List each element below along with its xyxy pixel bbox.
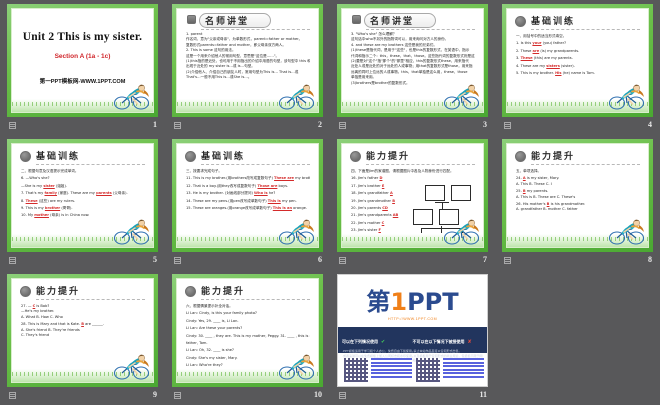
exercise-item: 8. These (这些) are my rulers. (21, 199, 145, 204)
header-badge-icon (515, 16, 526, 27)
item-pre: He is my brother. (对画线部分提问) (193, 191, 253, 195)
exercise-item: —She is my sister (姐姐). (21, 184, 145, 189)
slide-footer: 2 (165, 119, 330, 133)
text-line: That's…一般不用This is…或She is…。 (186, 75, 310, 80)
answer-blank: B (81, 322, 84, 326)
allowed-title: 可以在下列情况使用 (342, 339, 378, 344)
exercise-item: 13. He is my brother. (对画线部分提问) Who is h… (186, 191, 310, 196)
header-title: 基础训练 (531, 14, 575, 27)
slide-number: 11 (479, 390, 487, 399)
dialogue-line: Li Lan: Are these your parents? (186, 326, 310, 331)
answer-blank: B (523, 189, 526, 193)
answer-blank: brother (45, 206, 60, 210)
slide-canvas: 能力提升四、下面是Jim的家谱图，请根据图片中各及人物身份进行匹配。16. Ji… (341, 143, 484, 248)
cyclist-illustration (276, 84, 316, 110)
item-number: 10. (21, 213, 27, 217)
item-pre: These are my (521, 64, 546, 68)
cyclist-illustration (111, 219, 151, 245)
item-pre: —She is my (21, 184, 42, 188)
header-title: 能力提升 (36, 284, 80, 297)
item-number: 16. (351, 176, 357, 180)
slide-cell[interactable]: Unit 2 This is my sister.Section A (1a -… (0, 0, 165, 135)
header-badge-icon (20, 151, 31, 162)
answer-blank: A (390, 191, 393, 195)
answer-blank: AB (393, 213, 399, 217)
slide-frame[interactable]: 能力提升五、单项选择。24. A is my sister, Mary.A. T… (502, 139, 653, 252)
slide-icon (339, 392, 346, 399)
tree-connector (421, 228, 422, 233)
exercise-item: 11. This is my brother.(用brothers改写成复数句子… (186, 176, 310, 181)
item-number: 18. (351, 191, 357, 195)
question-stem-post: is my sister, Mary. (527, 176, 559, 180)
item-number: 13. (186, 191, 192, 195)
header-title: 基础训练 (36, 149, 80, 162)
slide-header: 能力提升 (185, 284, 310, 300)
cyclist-illustration (606, 219, 646, 245)
header-divider (531, 29, 640, 30)
slide-thumbnail-grid: Unit 2 This is my sister.Section A (1a -… (0, 0, 660, 405)
answer-blank: your (532, 41, 541, 45)
slide-icon (339, 122, 346, 129)
slide-number: 1 (153, 120, 157, 129)
item-number: 8. (21, 199, 24, 203)
text-line: 六、根据情景提示补全对话。 (186, 304, 310, 309)
dialogue-line: father, Tom. (186, 341, 310, 346)
slide-cell[interactable]: 能力提升四、下面是Jim的家谱图，请根据图片中各及人物身份进行匹配。16. Ji… (330, 135, 495, 270)
header-title: 能力提升 (201, 284, 245, 297)
answer-blank: are (533, 49, 540, 53)
item-number: 2. (516, 49, 519, 53)
item-label: Jim's father (358, 176, 378, 180)
header-title: 名师讲堂 (205, 14, 249, 27)
answer-blank: mother (34, 213, 49, 217)
answer-blank: This is (268, 199, 281, 203)
item-post: (you) father? (543, 41, 566, 45)
item-label: Jim's grandparents (358, 213, 392, 217)
item-number: 1. (516, 41, 519, 45)
text-line: A. grandfather B. mother C. father (516, 207, 640, 212)
item-post: (哥哥). (61, 206, 72, 210)
slide-canvas: 能力提升五、单项选择。24. A is my sister, Mary.A. T… (506, 143, 649, 248)
slide-canvas: 名师讲堂3. "Who's she" 怎么理解？这句话中who不另外的指物词可以… (341, 8, 484, 113)
slide-header: 基础训练 (20, 149, 145, 165)
exercise-item: 5. This is my brother. His (he) name is … (516, 71, 640, 76)
slide-footer: 5 (0, 254, 165, 268)
header-badge-icon (185, 151, 196, 162)
qr-caption (371, 358, 412, 380)
question-stem: 28. This is Mary and that is Kate. (21, 322, 80, 326)
slide-header: 基础训练 (515, 14, 640, 30)
question-stem: 26. His mother's (516, 202, 546, 206)
cross-icon: ✘ (468, 339, 472, 345)
header-badge-icon (352, 15, 361, 24)
text-line: (1)these是指代词，是用于"这些"，也是this的复数形式，在英语中，指示 (351, 48, 475, 53)
item-label: Jim's grandmother (358, 199, 391, 203)
dialogue-speaker: Cindy: (186, 319, 197, 323)
slide-icon (339, 257, 346, 264)
slide-frame[interactable]: Unit 2 This is my sister.Section A (1a -… (7, 4, 158, 117)
qr-block (344, 357, 412, 385)
dialogue-line: Cindy: Yes, 29. ____ is, Li Lan. (186, 319, 310, 324)
slide-frame[interactable]: 能力提升四、下面是Jim的家谱图，请根据图片中各及人物身份进行匹配。16. Ji… (337, 139, 488, 252)
dialogue-text: father, Tom. (186, 341, 208, 345)
cyclist-illustration (276, 219, 316, 245)
logo-char-one: 1 (390, 288, 407, 316)
slide-canvas: 能力提升27. — C is Bob?—He's my brother.A. W… (11, 278, 154, 383)
answer-blank: B (392, 199, 395, 203)
dialogue-text: Yes, 29. ____ is, Li Lan. (198, 319, 238, 323)
question-stem: 27. — (21, 304, 31, 308)
item-label: Jim's parents (358, 206, 381, 210)
item-post: boys. (279, 184, 289, 188)
text-line: A. This is B. These are C. These's (516, 195, 640, 200)
slide-frame[interactable]: 能力提升六、根据情景提示补全对话。Li Lan: Cindy, is this … (172, 274, 323, 387)
exercise-item: 2. These are (is) my grandparents. (516, 49, 640, 54)
qr-section (338, 357, 487, 387)
slide-cell[interactable]: 基础训练三、按要求完成句子。11. This is my brother.(用b… (165, 135, 330, 270)
header-badge-icon (187, 15, 196, 24)
slide-canvas: 名师讲堂1. parent作名词，意为"父亲或母亲"，为单数形式，parent=… (176, 8, 319, 113)
header-title: 能力提升 (366, 149, 410, 162)
item-label: Jim's sister (358, 228, 377, 232)
slide-footer: 9 (0, 389, 165, 403)
item-pre: This is my (26, 206, 44, 210)
dialogue-text: Cindy, is this your family photo? (199, 311, 257, 315)
qr-code-icon (344, 358, 368, 382)
dialogue-speaker: Cindy: (186, 334, 197, 338)
item-post: my pen. (282, 199, 297, 203)
license-band: 可以在下列情况使用✔·PPT模板适用于学习和个人办公，免费自由下载使用。·或者演… (338, 327, 487, 353)
slide-cell[interactable]: 基础训练二、根据句意及汉语提示完成单词。6. —Who's she? —She … (0, 135, 165, 270)
slide-frame[interactable]: 基础训练一、用括号中的适当形式填空。1. Is this your (you) … (502, 4, 653, 117)
header-divider (36, 164, 145, 165)
header-badge-icon (515, 151, 526, 162)
header-badge-icon (20, 286, 31, 297)
item-number: 11. (186, 176, 192, 180)
slide-footer: 3 (330, 119, 495, 133)
answer-blank: These (521, 56, 533, 60)
item-number: 20. (351, 206, 357, 210)
exercise-item: 9. This is my brother (哥哥). (21, 206, 145, 211)
slide-cell[interactable]: 能力提升五、单项选择。24. A is my sister, Mary.A. T… (495, 135, 660, 270)
slide-icon (9, 257, 16, 264)
item-post: (母亲) is in China now. (50, 213, 89, 217)
answer-blank-2: parents (96, 191, 112, 195)
slide-canvas: 能力提升六、根据情景提示补全对话。Li Lan: Cindy, is this … (176, 278, 319, 383)
item-number: 21. (351, 213, 357, 217)
slide-header: 名师讲堂 (185, 14, 310, 30)
slide-number: 5 (153, 255, 157, 264)
dialogue-text: She's my sister, Mary. (198, 356, 237, 360)
slide-frame[interactable]: 基础训练二、根据句意及汉语提示完成单词。6. —Who's she? —She … (7, 139, 158, 252)
slide-number: 8 (648, 255, 652, 264)
exercise-item: 1. Is this your (you) father? (516, 41, 640, 46)
slide-icon (504, 122, 511, 129)
slide-frame[interactable]: 基础训练三、按要求完成句子。11. This is my brother.(用b… (172, 139, 323, 252)
dialogue-text: Who're they? (199, 363, 223, 367)
brand-url: HTTP://WWW.1PPT.COM (338, 317, 487, 321)
slide-footer: 7 (330, 254, 495, 268)
dialogue-text: Are these your parents? (199, 326, 242, 330)
cyclist-illustration (606, 84, 646, 110)
header-title: 名师讲堂 (370, 14, 414, 27)
forbidden-title: 不可以在以下情况下被授使用 (413, 339, 465, 344)
exercise-item: 4. These are my sisters (sister). (516, 64, 640, 69)
question-stem-post: is his grandmother. (551, 202, 586, 206)
slide-cell[interactable]: 能力提升27. — C is Bob?—He's my brother.A. W… (0, 270, 165, 405)
cyclist-illustration (111, 354, 151, 380)
page-title: Unit 2 This is my sister. (12, 31, 153, 43)
exercise-item: 15. These are oranges.(用orange改写成单数句子) T… (186, 206, 310, 211)
question-stem: 25. (516, 189, 522, 193)
slide-icon (9, 392, 16, 399)
slide-icon (174, 122, 181, 129)
item-number: 7. (21, 191, 24, 195)
brand-logo: 第1PPT (338, 289, 487, 315)
slide-frame[interactable]: 能力提升27. — C is Bob?—He's my brother.A. W… (7, 274, 158, 387)
item-number: 14. (186, 199, 192, 203)
matching-item: 16. Jim's father D (351, 176, 475, 181)
dialogue-line: Cindy: 30. ____ , they are. This is my m… (186, 334, 310, 339)
item-number: 9. (21, 206, 24, 210)
answer-blank: This is an (273, 206, 292, 210)
logo-char-di: 第 (366, 288, 390, 316)
slide-canvas: 基础训练二、根据句意及汉语提示完成单词。6. —Who's she? —She … (11, 143, 154, 248)
answer-blank: family (44, 191, 57, 195)
item-pre: These (521, 49, 532, 53)
slide-icon (174, 257, 181, 264)
slide-canvas: Unit 2 This is my sister.Section A (1a -… (11, 8, 154, 113)
item-number: 6. (21, 176, 24, 180)
slide-header: 名师讲堂 (350, 14, 475, 30)
item-post-2: (父母亲). (113, 191, 128, 195)
question-stem-post: is Bob? (36, 304, 49, 308)
slide-brand[interactable]: 第1PPTHTTP://WWW.1PPT.COM可以在下列情况使用✔·PPT模板… (337, 274, 488, 387)
item-pre: —Who's she? (26, 176, 50, 180)
slide-footer: 11 (330, 389, 495, 403)
item-post: my brothers. (295, 176, 310, 180)
slide-header: 能力提升 (515, 149, 640, 165)
picture-a (425, 185, 445, 201)
slide-footer: 1 (0, 119, 165, 133)
slide-number: 2 (318, 120, 322, 129)
answer-blank: sisters (546, 64, 560, 68)
exercise-item: 3. These (this) are my parents. (516, 56, 640, 61)
license-allowed-column: 可以在下列情况使用✔·PPT模板适用于学习和个人办公，免费自由下载使用。·或者演… (342, 330, 417, 358)
slide-footer: 6 (165, 254, 330, 268)
text-line: 三、按要求完成句子。 (186, 169, 310, 174)
slide-cell[interactable]: 能力提升六、根据情景提示补全对话。Li Lan: Cindy, is this … (165, 270, 330, 405)
cyclist-illustration (441, 219, 481, 245)
cyclist-illustration (111, 84, 151, 110)
exercise-item: 6. —Who's she? (21, 176, 145, 181)
item-number: 23. (351, 228, 357, 232)
slide-cell[interactable]: 名师讲堂3. "Who's she" 怎么理解？这句话中who不另外的指物词可以… (330, 0, 495, 135)
text-line: 五、单项选择。 (516, 169, 640, 174)
answer-blank: B (547, 202, 550, 206)
dialogue-speaker: Li Lan: (186, 326, 198, 330)
item-post: (is) my grandparents. (540, 49, 579, 53)
slide-cell[interactable]: 第1PPTHTTP://WWW.1PPT.COM可以在下列情况使用✔·PPT模板… (330, 270, 495, 405)
tree-connector (442, 202, 443, 209)
slide-number: 10 (314, 390, 322, 399)
logo-char-ppt: PPT (407, 288, 459, 316)
answer-blank: CD (382, 206, 388, 210)
item-number: 19. (351, 199, 357, 203)
text-line: 四、下面是Jim的家谱图，请根据图片中各及人物身份进行匹配。 (351, 169, 475, 174)
slide-number: 7 (483, 255, 487, 264)
header-title: 基础训练 (201, 149, 245, 162)
slide-header: 能力提升 (350, 149, 475, 165)
item-number: 4. (516, 64, 519, 68)
item-post: (家庭). These are my (58, 191, 95, 195)
header-divider (201, 164, 310, 165)
text-line: A. This B. These C. I (516, 182, 640, 187)
item-number: 3. (516, 56, 519, 60)
question-stem-post: are ______. (85, 322, 104, 326)
forbidden-line: ·禁止本站作品直接以任何形式出售。 (413, 349, 488, 353)
item-number: 5. (516, 71, 519, 75)
item-post: orange. (293, 206, 307, 210)
slide-number: 9 (153, 390, 157, 399)
item-pre: My (28, 213, 33, 217)
answer-blank: D (379, 176, 382, 180)
item-number: 17. (351, 184, 357, 188)
slide-cell[interactable]: 基础训练一、用括号中的适当形式填空。1. Is this your (you) … (495, 0, 660, 135)
header-title: 能力提升 (531, 149, 575, 162)
check-icon: ✔ (381, 339, 385, 345)
slide-number: 6 (318, 255, 322, 264)
exercise-item: 7. That's my family (家庭). These are my p… (21, 191, 145, 196)
text-line: 二、根据句意及汉语提示完成单词。 (21, 169, 145, 174)
answer-blank: Who is (254, 191, 268, 195)
item-label: Jim's mother (358, 221, 381, 225)
slide-number: 3 (483, 120, 487, 129)
text-line: C. They's friend (21, 333, 145, 338)
text-line: 一、用括号中的适当形式填空。 (516, 34, 640, 39)
slide-canvas: 基础训练三、按要求完成句子。11. This is my brother.(用b… (176, 143, 319, 248)
item-post: (he) name is Tom. (563, 71, 595, 75)
qr-block (416, 357, 484, 385)
header-divider (36, 299, 145, 300)
exercise-item: 12. That is a boy.(用they改写成复数句子) Those a… (186, 184, 310, 189)
item-pre: Is this (521, 41, 532, 45)
slide-icon (9, 122, 16, 129)
item-post: (this) are my parents. (534, 56, 573, 60)
item-pre: That's my (26, 191, 44, 195)
answer-blank: sister (43, 184, 54, 188)
slide-icon (504, 257, 511, 264)
item-post: (这些) are my rulers. (39, 199, 75, 203)
qr-caption (443, 358, 484, 380)
answer-blank: C (382, 221, 385, 225)
dialogue-speaker: Cindy: (186, 356, 197, 360)
answer-blank: These (26, 199, 38, 203)
dialogue-text: Oh, 32. ____ is she? (199, 348, 234, 352)
item-number: 15. (186, 206, 192, 210)
dialogue-speaker: Li Lan: (186, 348, 198, 352)
header-divider (201, 299, 310, 300)
slide-header: 基础训练 (185, 149, 310, 165)
slide-canvas: 基础训练一、用括号中的适当形式填空。1. Is this your (you) … (506, 8, 649, 113)
cyclist-illustration (276, 354, 316, 380)
slide-cell[interactable]: 名师讲堂1. parent作名词，意为"父亲或母亲"，为单数形式，parent=… (165, 0, 330, 135)
header-divider (201, 29, 310, 30)
slide-frame[interactable]: 名师讲堂3. "Who's she" 怎么理解？这句话中who不另外的指物词可以… (337, 4, 488, 117)
item-label: Jim's brother (358, 184, 381, 188)
slide-frame[interactable]: 名师讲堂1. parent作名词，意为"父亲或母亲"，为单数形式，parent=… (172, 4, 323, 117)
dialogue-speaker: Li Lan: (186, 363, 198, 367)
item-number: 12. (186, 184, 192, 188)
item-pre: This is my brother.(用brothers改写成复数句子) (193, 176, 273, 180)
slide-icon (174, 392, 181, 399)
answer-blank: E (382, 184, 384, 188)
answer-blank: C (33, 304, 36, 308)
slide-footer: 10 (165, 389, 330, 403)
item-post: (sister). (561, 64, 575, 68)
header-divider (366, 164, 475, 165)
picture-c (413, 209, 433, 225)
item-pre: These are my pens.(用pen改写成单数句子) (193, 199, 267, 203)
header-badge-icon (350, 151, 361, 162)
dialogue-line: Li Lan: Cindy, is this your family photo… (186, 311, 310, 316)
exercise-item: 14. These are my pens.(用pen改写成单数句子) This… (186, 199, 310, 204)
slide-footer: 8 (495, 254, 660, 268)
item-post: (姐姐). (56, 184, 67, 188)
slide-footer: 4 (495, 119, 660, 133)
answer-blank: His (555, 71, 561, 75)
item-pre: That is a boy.(用they改写成复数句子) (193, 184, 256, 188)
item-post: he? (269, 191, 275, 195)
answer-blank: F (378, 228, 380, 232)
item-pre: This is my brother. (521, 71, 554, 75)
dialogue-text: 30. ____ , they are. This is my mother, … (198, 334, 310, 338)
question-stem: 24. (516, 176, 522, 180)
dialogue-speaker: Li Lan: (186, 311, 198, 315)
answer-blank: A (523, 176, 526, 180)
header-divider (366, 29, 475, 30)
slide-number: 4 (648, 120, 652, 129)
cyclist-illustration (441, 84, 481, 110)
question-stem-post: my parents. (527, 189, 549, 193)
text-line: A. What B. How C. Who (21, 315, 145, 320)
qr-code-icon (416, 358, 440, 382)
item-number: 22. (351, 221, 357, 225)
picture-b (451, 185, 471, 201)
allowed-line: ·PPT模板适用于学习和个人办公，免费自由下载使用。 (342, 349, 417, 353)
answer-blank: These are (274, 176, 294, 180)
page-subtitle: Section A (1a - 1c) (12, 53, 153, 60)
slide-header: 能力提升 (20, 284, 145, 300)
answer-blank: Those are (257, 184, 277, 188)
header-divider (531, 164, 640, 165)
item-pre: These are oranges.(用orange改写成单数句子) (193, 206, 272, 210)
header-badge-icon (185, 286, 196, 297)
item-label: Jim's grandfather (358, 191, 389, 195)
